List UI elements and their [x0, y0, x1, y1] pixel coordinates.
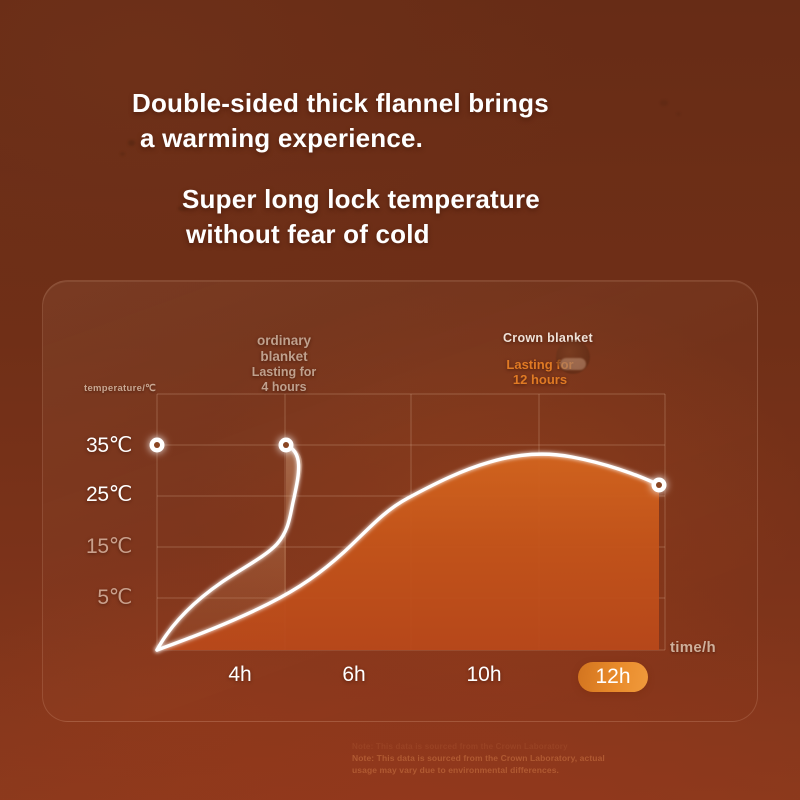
headline-line-3: Super long lock temperature	[182, 184, 740, 215]
footnote-ghost-text: Note: This data is sourced from the Crow…	[352, 742, 692, 751]
headline-line-1: Double-sided thick flannel brings	[132, 88, 740, 119]
headline-line-2: a warming experience.	[140, 123, 740, 154]
footnote: Note: This data is sourced from the Crow…	[352, 752, 682, 777]
headline-line-4: without fear of cold	[186, 219, 740, 250]
footnote-line-2: usage may vary due to environmental diff…	[352, 764, 682, 776]
chart-card-panel	[42, 280, 758, 722]
footnote-line-1: Note: This data is sourced from the Crow…	[352, 752, 682, 764]
headline-block: Double-sided thick flannel brings a warm…	[0, 88, 800, 250]
